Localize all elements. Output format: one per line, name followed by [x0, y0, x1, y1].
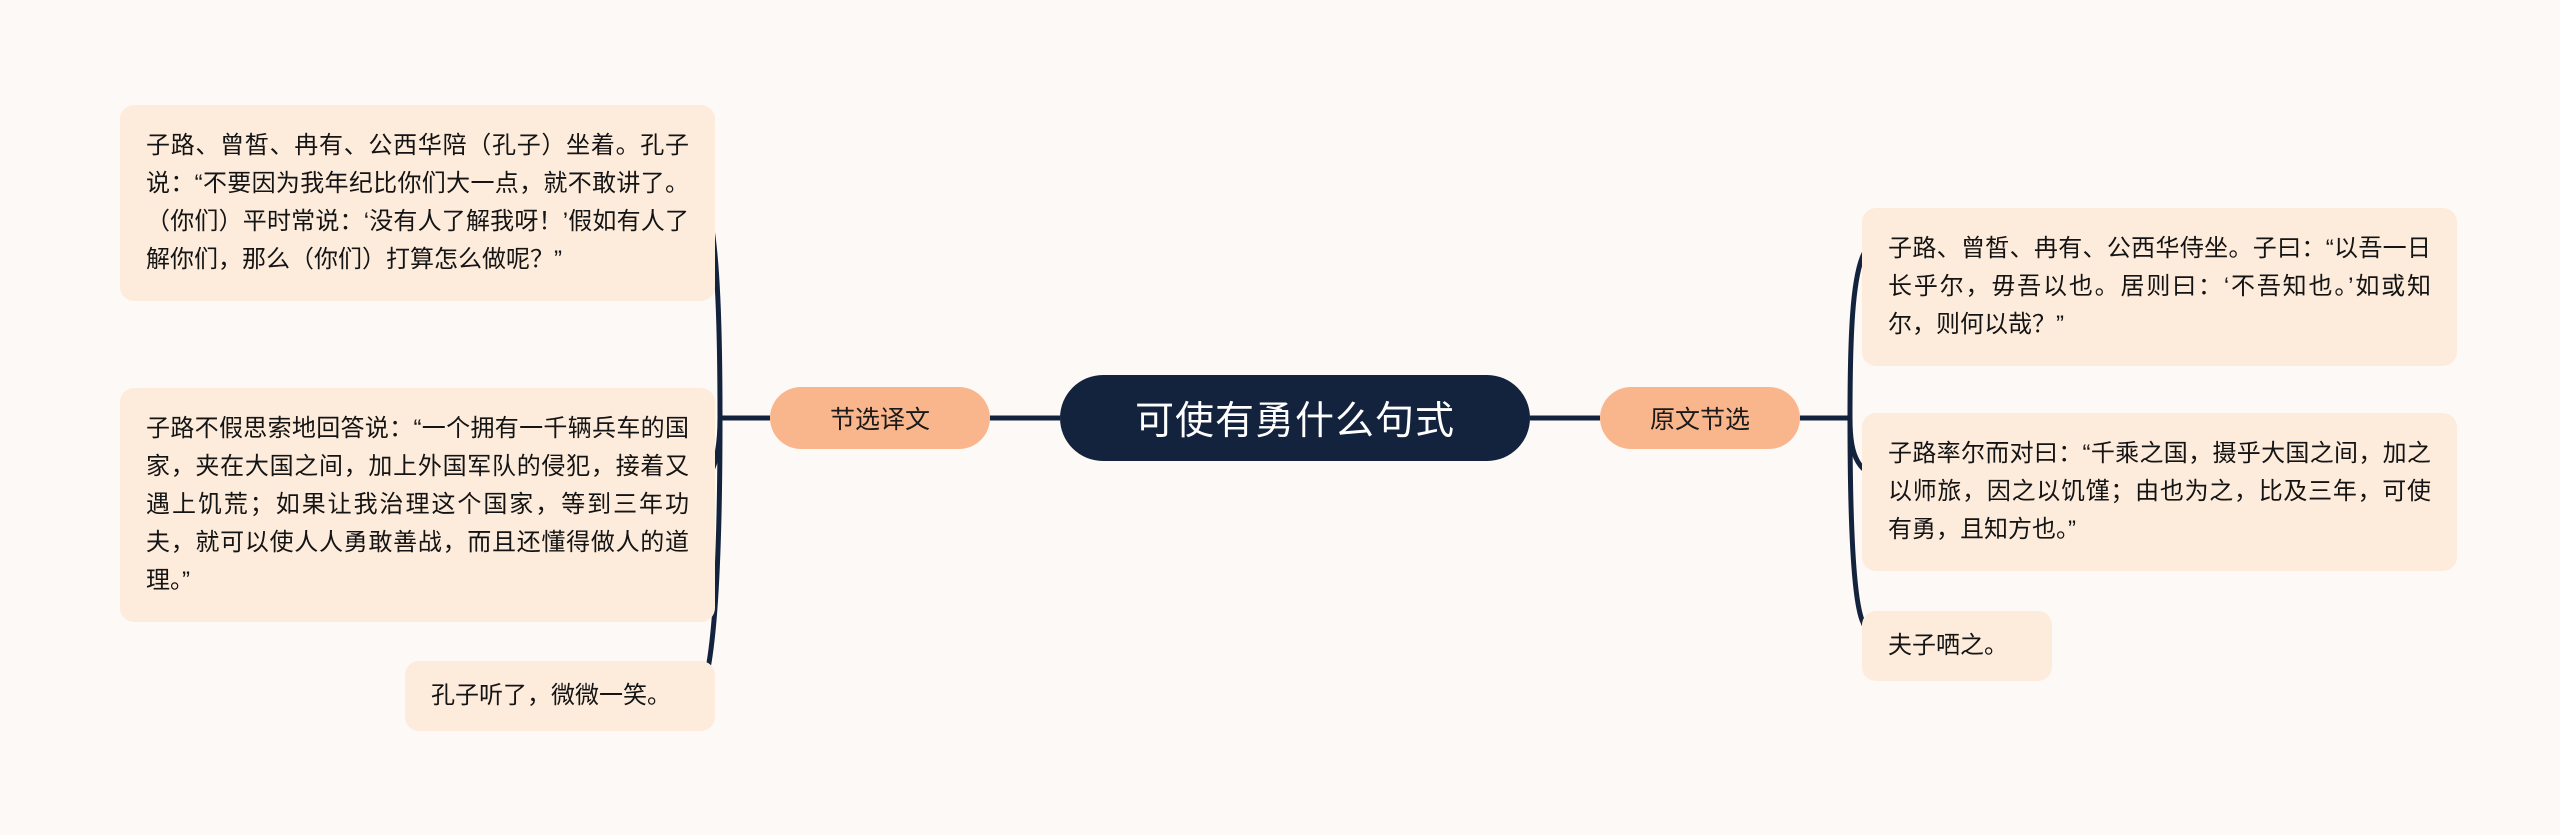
branch-label: 节选译文: [830, 400, 930, 436]
leaf-card-original-3[interactable]: 夫子哂之。: [1862, 611, 2052, 681]
leaf-card-translation-1[interactable]: 子路、曾皙、冉有、公西华陪（孔子）坐着。孔子说：“不要因为我年纪比你们大一点，就…: [120, 105, 715, 301]
leaf-card-original-1[interactable]: 子路、曾皙、冉有、公西华侍坐。子曰：“以吾一日长乎尔，毋吾以也。居则曰：‘不吾知…: [1862, 208, 2457, 366]
root-label: 可使有勇什么句式: [1135, 390, 1455, 446]
leaf-card-translation-3[interactable]: 孔子听了，微微一笑。: [405, 661, 715, 731]
branch-node-original[interactable]: 原文节选: [1600, 387, 1800, 449]
leaf-text: 孔子听了，微微一笑。: [431, 682, 671, 709]
root-node[interactable]: 可使有勇什么句式: [1060, 375, 1530, 461]
leaf-text: 子路、曾皙、冉有、公西华侍坐。子曰：“以吾一日长乎尔，毋吾以也。居则曰：‘不吾知…: [1888, 235, 2431, 338]
leaf-text: 子路率尔而对曰：“千乘之国，摄乎大国之间，加之以师旅，因之以饥馑；由也为之，比及…: [1888, 440, 2431, 543]
mindmap-canvas: 子路、曾皙、冉有、公西华陪（孔子）坐着。孔子说：“不要因为我年纪比你们大一点，就…: [0, 0, 2560, 835]
leaf-text: 子路、曾皙、冉有、公西华陪（孔子）坐着。孔子说：“不要因为我年纪比你们大一点，就…: [146, 132, 689, 273]
branch-label: 原文节选: [1650, 400, 1750, 436]
leaf-text: 子路不假思索地回答说：“一个拥有一千辆兵车的国家，夹在大国之间，加上外国军队的侵…: [146, 415, 689, 594]
leaf-card-translation-2[interactable]: 子路不假思索地回答说：“一个拥有一千辆兵车的国家，夹在大国之间，加上外国军队的侵…: [120, 388, 715, 622]
leaf-card-original-2[interactable]: 子路率尔而对曰：“千乘之国，摄乎大国之间，加之以师旅，因之以饥馑；由也为之，比及…: [1862, 413, 2457, 571]
branch-node-translation[interactable]: 节选译文: [770, 387, 990, 449]
leaf-text: 夫子哂之。: [1888, 632, 2008, 659]
